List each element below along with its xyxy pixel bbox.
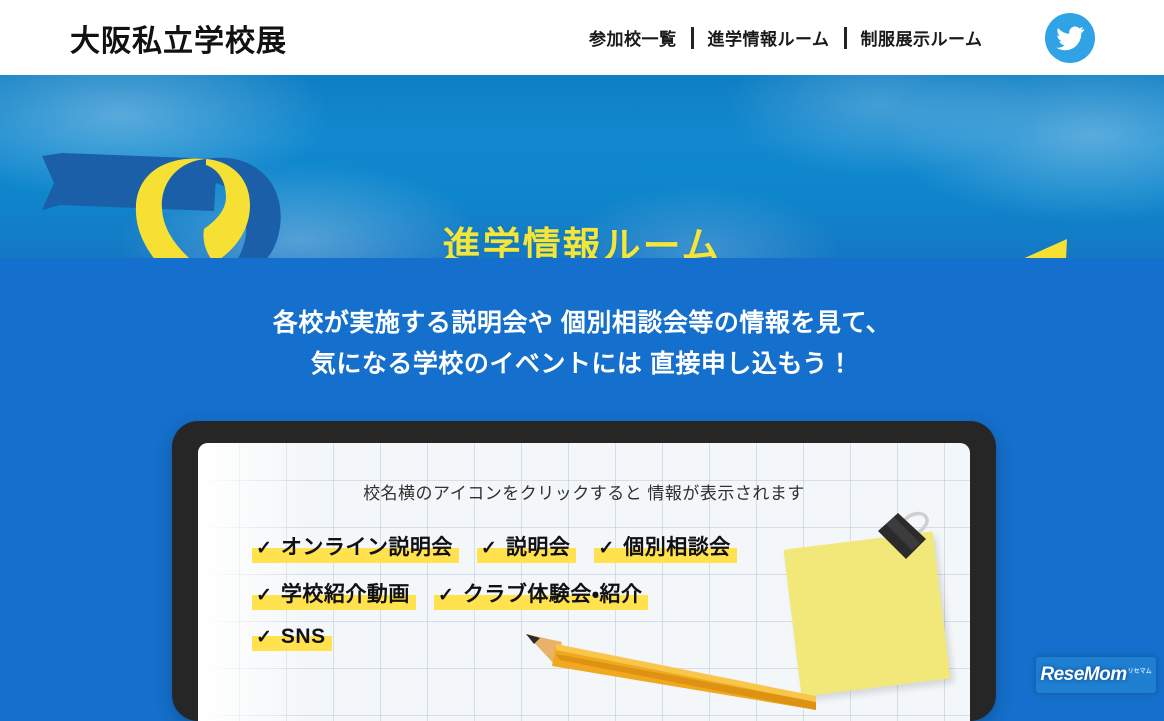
instruction-text: 校名横のアイコンをクリックすると 情報が表示されます (198, 479, 970, 504)
checklist-item-label: 個別相談会 (623, 531, 731, 561)
twitter-bird-icon (1055, 23, 1085, 53)
checklist-row: ✓ オンライン説明会 ✓ 説明会 ✓ 個別相談会 (256, 531, 759, 561)
headline-line-1: 各校が実施する説明会や 個別相談会等の情報を見て、 (0, 303, 1164, 344)
checklist-item-label: 学校紹介動画 (281, 578, 410, 608)
binder-clip-icon (876, 511, 934, 563)
checklist-item-label: オンライン説明会 (281, 531, 453, 561)
check-icon: ✓ (481, 537, 497, 560)
checklist-item-online-briefing[interactable]: ✓ オンライン説明会 (256, 531, 453, 561)
resemom-watermark: ReseMom リセマム (1036, 657, 1156, 693)
main-navigation: 参加校一覧 進学情報ルーム 制服展示ルーム (575, 0, 997, 75)
checklist-item-individual-consultation[interactable]: ✓ 個別相談会 (598, 531, 730, 561)
twitter-link-button[interactable] (1045, 13, 1095, 63)
checklist-item-label: SNS (281, 625, 326, 649)
checklist-item-club-experience[interactable]: ✓ クラブ体験会・紹介 (438, 578, 643, 608)
site-logo[interactable]: 大阪私立学校展 (70, 16, 287, 60)
hero-title: 進学情報ルーム (0, 215, 1164, 258)
check-icon: ✓ (256, 626, 272, 649)
hero-banner: 進学情報ルーム (0, 75, 1164, 258)
watermark-text: ReseMom (1040, 664, 1126, 686)
nav-item-participating-schools[interactable]: 参加校一覧 (575, 25, 691, 50)
checklist-item-label: クラブ体験会・紹介 (463, 578, 643, 608)
checklist-item-label: 説明会 (506, 531, 571, 561)
headline-line-2: 気になる学校のイベントには 直接申し込もう！ (0, 344, 1164, 385)
nav-item-admission-info-room[interactable]: 進学情報ルーム (694, 25, 844, 50)
pencil-illustration (516, 620, 816, 710)
site-header: 大阪私立学校展 参加校一覧 進学情報ルーム 制服展示ルーム (0, 0, 1164, 75)
checklist-item-school-video[interactable]: ✓ 学校紹介動画 (256, 578, 410, 608)
check-icon: ✓ (598, 537, 614, 560)
checklist-item-sns[interactable]: ✓ SNS (256, 625, 326, 649)
nav-item-uniform-room[interactable]: 制服展示ルーム (847, 25, 997, 50)
page-headline: 各校が実施する説明会や 個別相談会等の情報を見て、 気になる学校のイベントには … (0, 303, 1164, 385)
check-icon: ✓ (438, 584, 454, 607)
checklist-row: ✓ 学校紹介動画 ✓ クラブ体験会・紹介 (256, 578, 759, 608)
checklist-item-briefing[interactable]: ✓ 説明会 (481, 531, 570, 561)
check-icon: ✓ (256, 584, 272, 607)
watermark-subtext: リセマム (1128, 666, 1152, 675)
check-icon: ✓ (256, 537, 272, 560)
